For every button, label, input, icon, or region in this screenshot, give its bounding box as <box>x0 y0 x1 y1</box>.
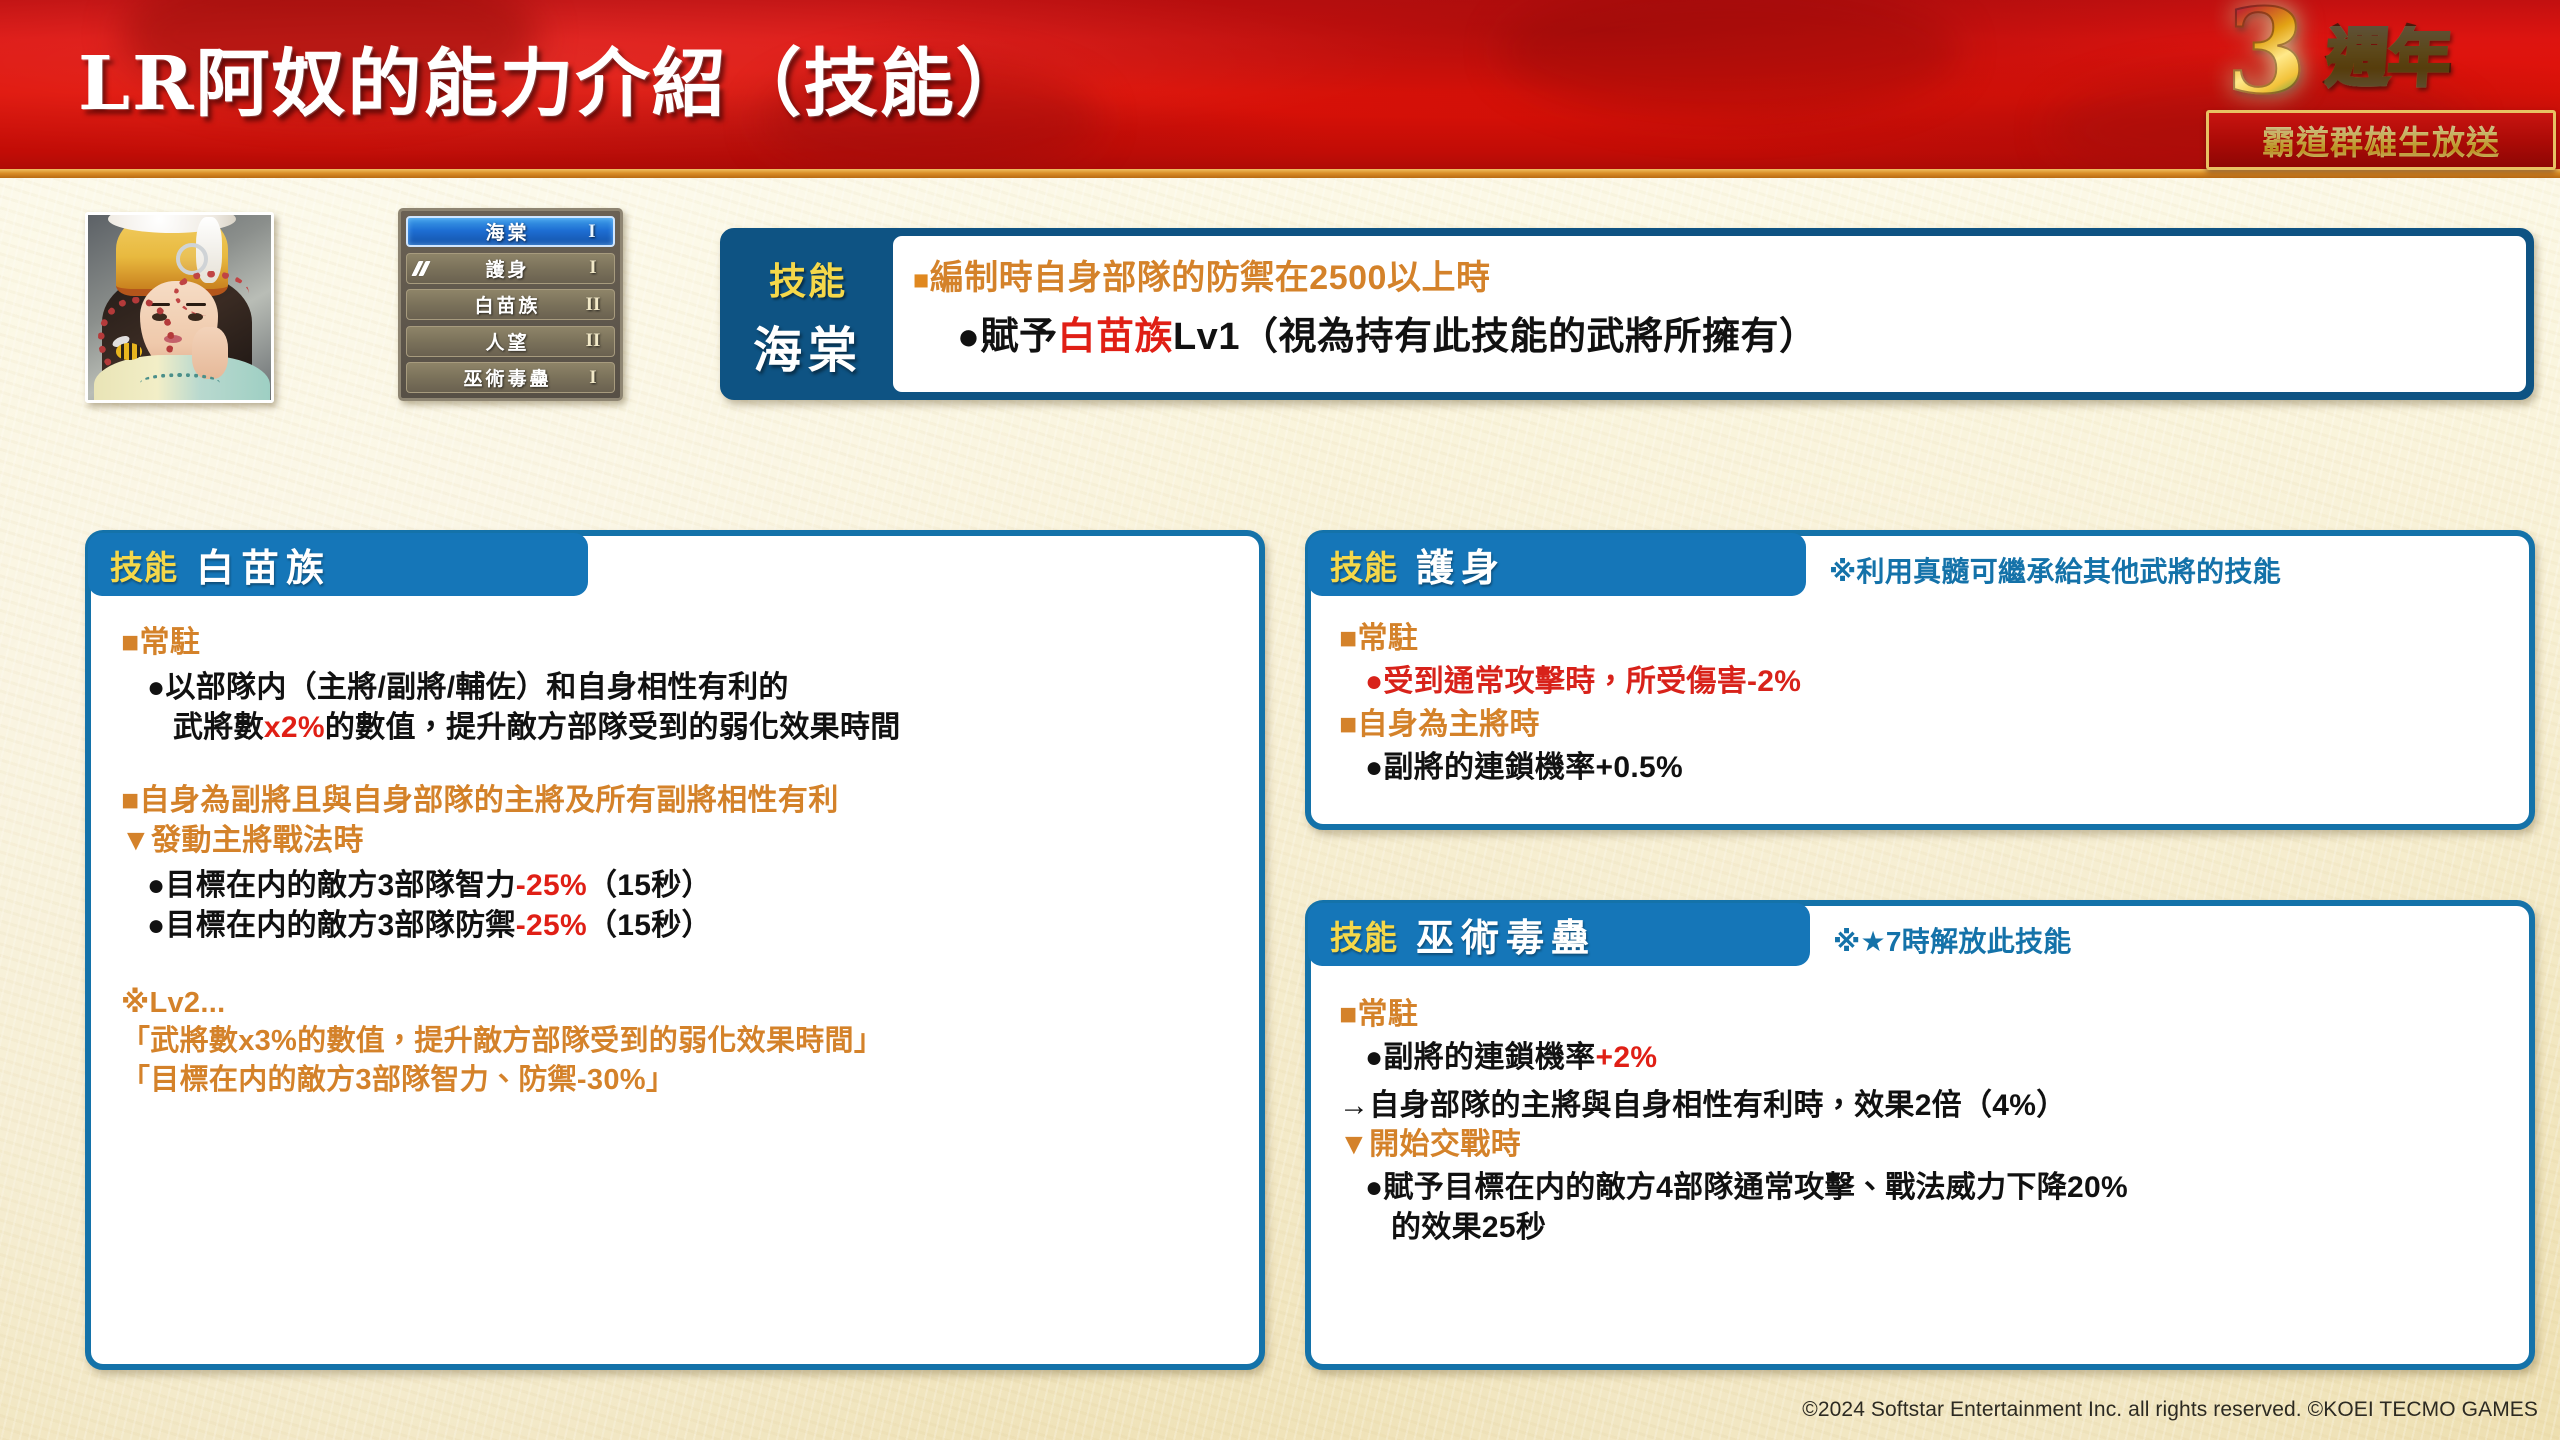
skill-list-item-4[interactable]: 巫術毒蠱I <box>406 362 615 393</box>
panel-skill-name: 白苗族 <box>196 537 331 592</box>
portrait-hat-ornament <box>176 243 208 275</box>
portrait-hand <box>192 327 228 379</box>
effect-line: 武將數x2%的數值，提升敵方部隊受到的弱化效果時間 <box>121 708 1235 748</box>
skill-list-item-name: 海棠 <box>436 218 579 245</box>
section-heading: ■自身為主將時 <box>1339 706 2505 744</box>
panel-hu-shen: 技能 護身 ※利用真髓可繼承給其他武將的技能 ■常駐 ●受到通常攻擊時，所受傷害… <box>1305 530 2535 830</box>
portrait-necklace <box>140 373 220 393</box>
effect-line: ●以部隊内（主將/副將/輔佐）和自身相性有利的 <box>121 668 1235 708</box>
skill-list-item-name: 護身 <box>435 255 580 282</box>
effect-line: 的效果25秒 <box>1339 1208 2509 1248</box>
broadcast-badge-label: 霸道群雄生放送 <box>2262 116 2500 164</box>
panel-header-hu-shen: 技能 護身 <box>1308 533 1806 596</box>
panel-wu-shu-du-gu: 技能 巫術毒蠱 ※★7時解放此技能 ■常駐 ●副將的連鎖機率+2% →自身部隊的… <box>1305 900 2535 1370</box>
section-heading: ■常駐 <box>121 624 1235 662</box>
page-header: LR阿奴的能力介紹（技能） 3 週年 <box>0 0 2560 178</box>
main-skill-condition: ■編制時自身部隊的防禦在2500以上時 <box>913 250 2506 299</box>
skill-list-item-1[interactable]: 護身I <box>406 253 615 284</box>
section-heading: ■自身為副將且與自身部隊的主將及所有副將相性有利 <box>121 782 1235 820</box>
section-heading: ■常駐 <box>1339 996 2509 1034</box>
skill-list-item-level: I <box>579 221 605 243</box>
character-skill-list[interactable]: 海棠I護身I白苗族II人望II巫術毒蠱I <box>398 208 623 401</box>
effect-line-arrow: →自身部隊的主將與自身相性有利時，效果2倍（4%） <box>1339 1080 2509 1124</box>
panel-header-wu-shu-du-gu: 技能 巫術毒蠱 <box>1308 903 1810 966</box>
panel-skill-name: 護身 <box>1416 537 1506 592</box>
anniversary-logo: 3 週年 <box>2222 0 2552 114</box>
effect-line: ●受到通常攻擊時，所受傷害-2% <box>1339 662 2505 702</box>
main-skill-name: 海棠 <box>753 311 863 382</box>
main-skill-body: ■編制時自身部隊的防禦在2500以上時 ●賦予白苗族Lv1（視為持有此技能的武將… <box>893 236 2526 392</box>
panel-bai-miao-zu: 技能 白苗族 ■常駐 ●以部隊内（主將/副將/輔佐）和自身相性有利的 武將數x2… <box>85 530 1265 1370</box>
inherit-slash-icon <box>415 261 433 275</box>
skill-list-item-name: 人望 <box>435 328 580 355</box>
skill-icon-empty <box>415 334 433 348</box>
section-heading: ▼開始交戰時 <box>1339 1126 2509 1164</box>
anniversary-word: 週年 <box>2324 26 2452 90</box>
copyright-footer: ©2024 Softstar Entertainment Inc. all ri… <box>1802 1398 2538 1422</box>
panel-skill-name: 巫術毒蠱 <box>1416 907 1596 962</box>
spacer <box>121 946 1235 984</box>
main-skill-label: 技能 海棠 <box>723 231 893 397</box>
effect-line: ●副將的連鎖機率+2% <box>1339 1038 2509 1078</box>
skill-list-item-0[interactable]: 海棠I <box>406 216 615 247</box>
portrait-bead-strand <box>174 271 249 316</box>
level-note-line: 「目標在内的敵方3部隊智力、防禦-30%」 <box>121 1061 1235 1100</box>
panel-body-wu-shu-du-gu: ■常駐 ●副將的連鎖機率+2% →自身部隊的主將與自身相性有利時，效果2倍（4%… <box>1339 996 2509 1248</box>
effect-line: ●賦予目標在内的敵方4部隊通常攻擊、戰法威力下降20% <box>1339 1168 2509 1208</box>
skill-list-item-name: 巫術毒蠱 <box>435 364 580 391</box>
level-note-line: ※Lv2... <box>121 984 1235 1023</box>
effect-line: ●副將的連鎖機率+0.5% <box>1339 748 2505 788</box>
skill-list-item-level: II <box>580 330 606 352</box>
section-heading: ▼發動主將戰法時 <box>121 822 1235 860</box>
skill-icon-empty <box>415 298 433 312</box>
anniversary-number: 3 <box>2226 0 2307 110</box>
main-skill-box: 技能 海棠 ■編制時自身部隊的防禦在2500以上時 ●賦予白苗族Lv1（視為持有… <box>720 228 2534 400</box>
broadcast-badge: 霸道群雄生放送 <box>2206 110 2556 170</box>
panel-note-hu-shen: ※利用真髓可繼承給其他武將的技能 <box>1829 550 2281 590</box>
main-skill-kind: 技能 <box>769 251 847 305</box>
panel-kind-label: 技能 <box>110 541 178 589</box>
effect-line: ●目標在内的敵方3部隊防禦-25%（15秒） <box>121 906 1235 946</box>
panel-body-bai-miao-zu: ■常駐 ●以部隊内（主將/副將/輔佐）和自身相性有利的 武將數x2%的數值，提升… <box>121 624 1235 1100</box>
skill-list-item-3[interactable]: 人望II <box>406 326 615 357</box>
skill-icon-empty <box>416 225 434 239</box>
panel-note-wu-shu-du-gu: ※★7時解放此技能 <box>1833 920 2072 960</box>
portrait-bee <box>116 343 142 360</box>
skill-list-item-name: 白苗族 <box>435 291 580 318</box>
effect-line: ●目標在内的敵方3部隊智力-25%（15秒） <box>121 866 1235 906</box>
character-portrait <box>85 212 274 403</box>
bullet-square-icon: ■ <box>913 265 930 295</box>
panel-kind-label: 技能 <box>1330 911 1398 959</box>
section-heading: ■常駐 <box>1339 620 2505 658</box>
main-skill-effect: ●賦予白苗族Lv1（視為持有此技能的武將所擁有） <box>913 305 2506 360</box>
panel-kind-label: 技能 <box>1330 541 1398 589</box>
skill-list-item-level: I <box>580 257 606 279</box>
skill-list-item-level: II <box>580 294 606 316</box>
spacer <box>121 748 1235 782</box>
level-note-line: 「武將數x3%的數值，提升敵方部隊受到的弱化效果時間」 <box>121 1022 1235 1061</box>
skill-list-item-level: I <box>580 367 606 389</box>
header-blotch <box>1500 0 1960 120</box>
page-title: LR阿奴的能力介紹（技能） <box>78 24 1032 131</box>
panel-body-hu-shen: ■常駐 ●受到通常攻擊時，所受傷害-2% ■自身為主將時 ●副將的連鎖機率+0.… <box>1339 620 2505 788</box>
panel-header-bai-miao-zu: 技能 白苗族 <box>88 533 588 596</box>
skill-icon-empty <box>415 371 433 385</box>
skill-list-item-2[interactable]: 白苗族II <box>406 289 615 320</box>
